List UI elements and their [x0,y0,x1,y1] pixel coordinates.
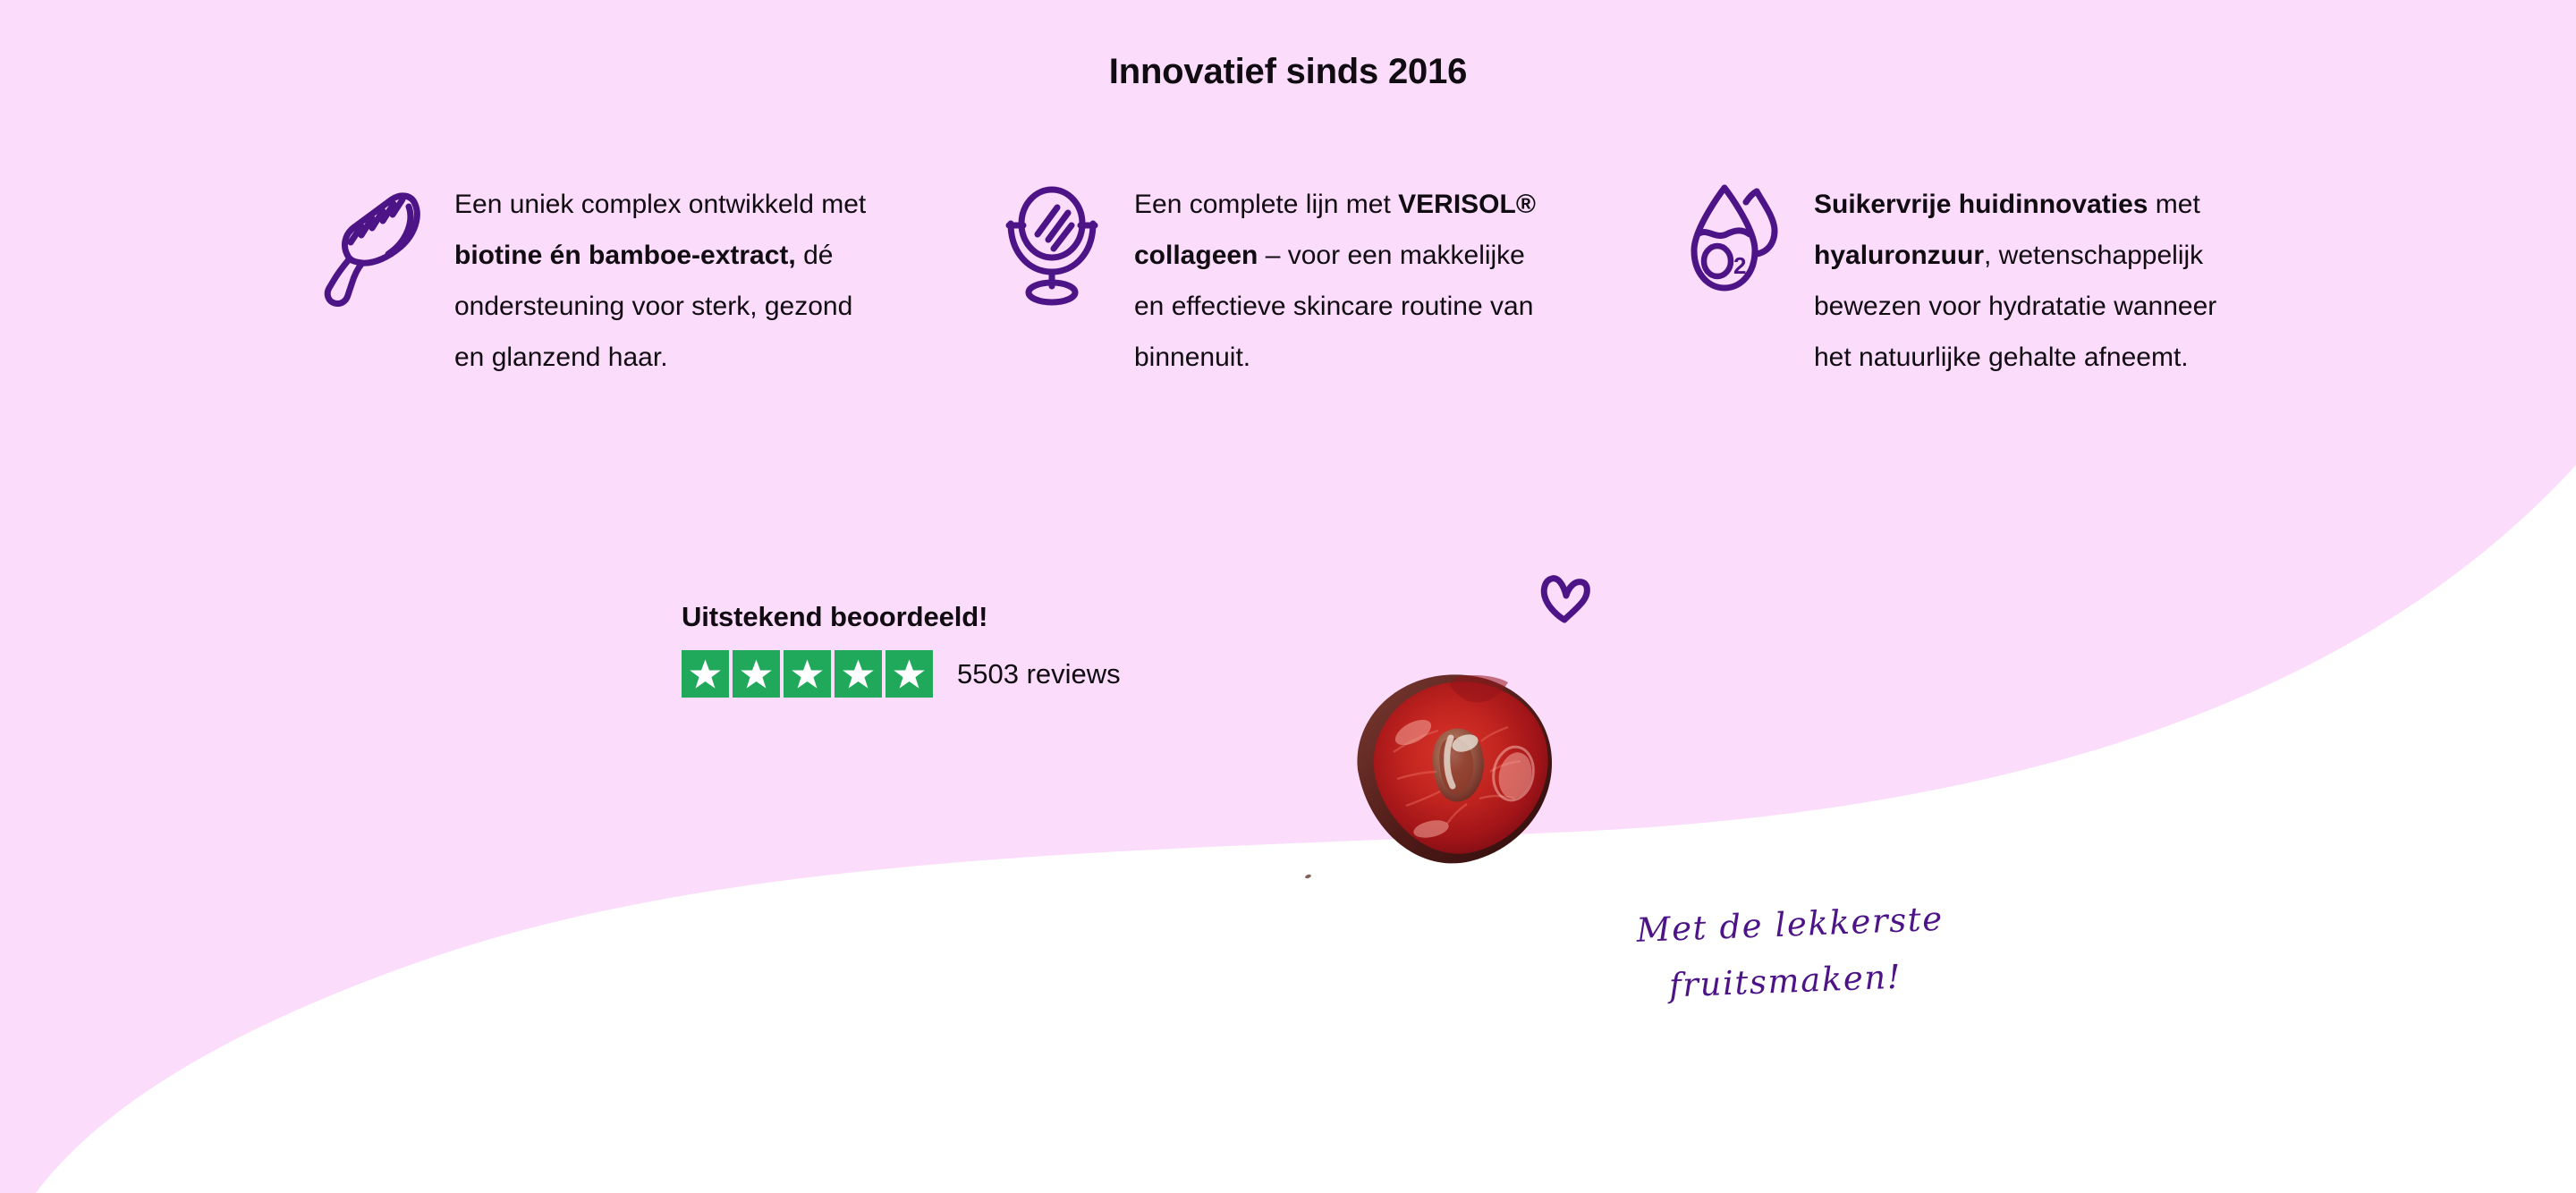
svg-text:2: 2 [1733,252,1746,279]
feature-item-hair: Een uniek complex ontwikkeld met biotine… [322,175,877,383]
feature-item-hydration: 2 Suikervrije huidinnovaties met hyaluro… [1682,175,2236,383]
star-icon [733,650,780,698]
reviews-block: Uitstekend beoordeeld! 5503 reviews [682,601,1121,698]
hairbrush-icon [322,175,422,309]
feature-item-skincare: Een complete lijn met VERISOL® collageen… [1002,175,1556,383]
feature-list: Een uniek complex ontwikkeld met biotine… [322,175,2290,383]
reviews-title: Uitstekend beoordeeld! [682,601,1121,633]
feature-text-hair: Een uniek complex ontwikkeld met biotine… [454,175,877,383]
star-icon [784,650,831,698]
feature-text-hydration: Suikervrije huidinnovaties met hyaluronz… [1814,175,2236,383]
handwritten-caption: Met de lekkerste fruitsmaken! [1633,832,2017,1071]
vanity-mirror-icon [1002,175,1102,309]
page-title: Innovatief sinds 2016 [0,52,2576,92]
halved-cherry-image [1331,638,1599,906]
star-icon [835,650,882,698]
star-icon [885,650,933,698]
water-drop-o2-icon: 2 [1682,175,1782,309]
heart-doodle-icon [1537,569,1596,626]
star-rating[interactable] [682,650,933,698]
star-icon [682,650,729,698]
promo-banner: Innovatief sinds 2016 Een uniek complex … [0,0,2576,1193]
handwriting-line-2: fruitsmaken! [1638,944,2015,1015]
reviews-count: 5503 reviews [957,658,1121,690]
handwriting-line-1: Met de lekkerste [1636,900,1945,950]
feature-text-skincare: Een complete lijn met VERISOL® collageen… [1134,175,1556,383]
reviews-row: 5503 reviews [682,650,1121,698]
